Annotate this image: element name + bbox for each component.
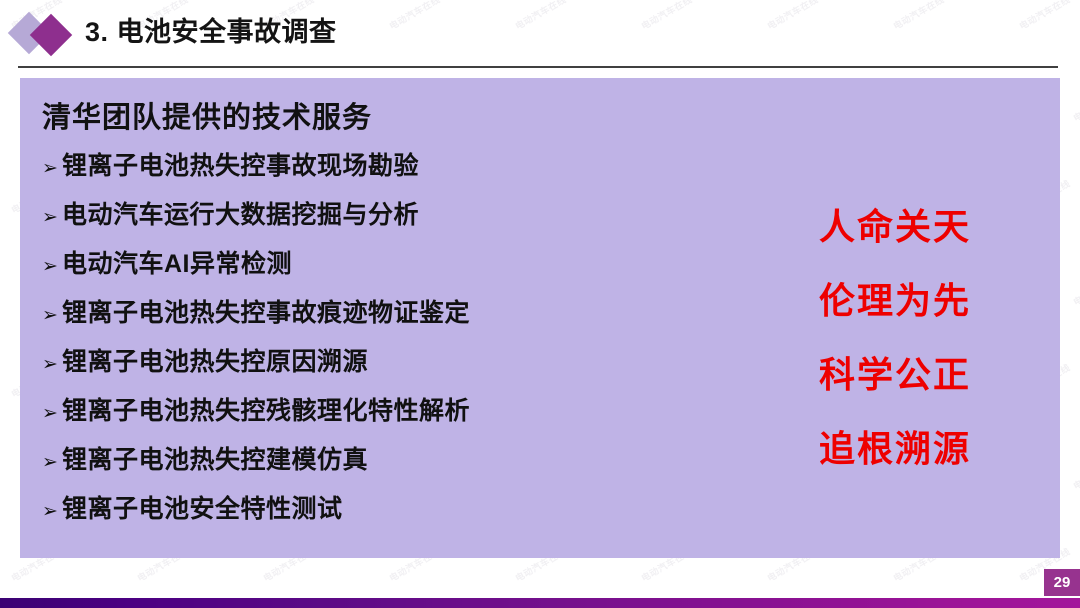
bullet-arrow-icon: ➢ [42, 159, 62, 178]
slogan-line: 科学公正 [755, 338, 1035, 412]
page-number-badge: 29 [1044, 569, 1080, 596]
list-item-label: 锂离子电池热失控原因溯源 [62, 350, 368, 375]
list-item: ➢锂离子电池热失控事故现场勘验 [42, 154, 742, 203]
bullet-arrow-icon: ➢ [42, 257, 62, 276]
service-bullet-list: ➢锂离子电池热失控事故现场勘验➢电动汽车运行大数据挖掘与分析➢电动汽车AI异常检… [42, 154, 742, 546]
content-panel: 清华团队提供的技术服务 ➢锂离子电池热失控事故现场勘验➢电动汽车运行大数据挖掘与… [20, 78, 1060, 558]
bullet-arrow-icon: ➢ [42, 453, 62, 472]
bullet-arrow-icon: ➢ [42, 208, 62, 227]
diamond-logo-icon [10, 12, 80, 56]
watermark-text: 电动汽车在线 [1071, 269, 1080, 309]
watermark-text: 电动汽车在线 [1071, 453, 1080, 493]
list-item-label: 电动汽车运行大数据挖掘与分析 [62, 203, 419, 228]
slide-header: 3. 电池安全事故调查 [0, 0, 1080, 68]
list-item: ➢锂离子电池热失控建模仿真 [42, 448, 742, 497]
bullet-arrow-icon: ➢ [42, 502, 62, 521]
list-item: ➢电动汽车AI异常检测 [42, 252, 742, 301]
bullet-arrow-icon: ➢ [42, 355, 62, 374]
header-divider [18, 66, 1058, 68]
list-item-label: 锂离子电池热失控残骸理化特性解析 [62, 399, 470, 424]
list-item: ➢锂离子电池热失控原因溯源 [42, 350, 742, 399]
list-item: ➢锂离子电池安全特性测试 [42, 497, 742, 546]
footer-gradient-bar [0, 598, 1080, 608]
list-item-label: 电动汽车AI异常检测 [62, 252, 292, 277]
list-item: ➢锂离子电池热失控残骸理化特性解析 [42, 399, 742, 448]
list-item-label: 锂离子电池安全特性测试 [62, 497, 343, 522]
watermark-text: 电动汽车在线 [1071, 85, 1080, 125]
slogan-line: 伦理为先 [755, 264, 1035, 338]
slogan-column: 人命关天伦理为先科学公正追根溯源 [755, 190, 1035, 486]
panel-heading: 清华团队提供的技术服务 [42, 94, 372, 136]
list-item-label: 锂离子电池热失控建模仿真 [62, 448, 368, 473]
page-title: 3. 电池安全事故调查 [85, 13, 337, 51]
bullet-arrow-icon: ➢ [42, 306, 62, 325]
list-item: ➢电动汽车运行大数据挖掘与分析 [42, 203, 742, 252]
list-item-label: 锂离子电池热失控事故痕迹物证鉴定 [62, 301, 470, 326]
slogan-line: 追根溯源 [755, 412, 1035, 486]
bullet-arrow-icon: ➢ [42, 404, 62, 423]
list-item: ➢锂离子电池热失控事故痕迹物证鉴定 [42, 301, 742, 350]
slogan-line: 人命关天 [755, 190, 1035, 264]
list-item-label: 锂离子电池热失控事故现场勘验 [62, 154, 419, 179]
